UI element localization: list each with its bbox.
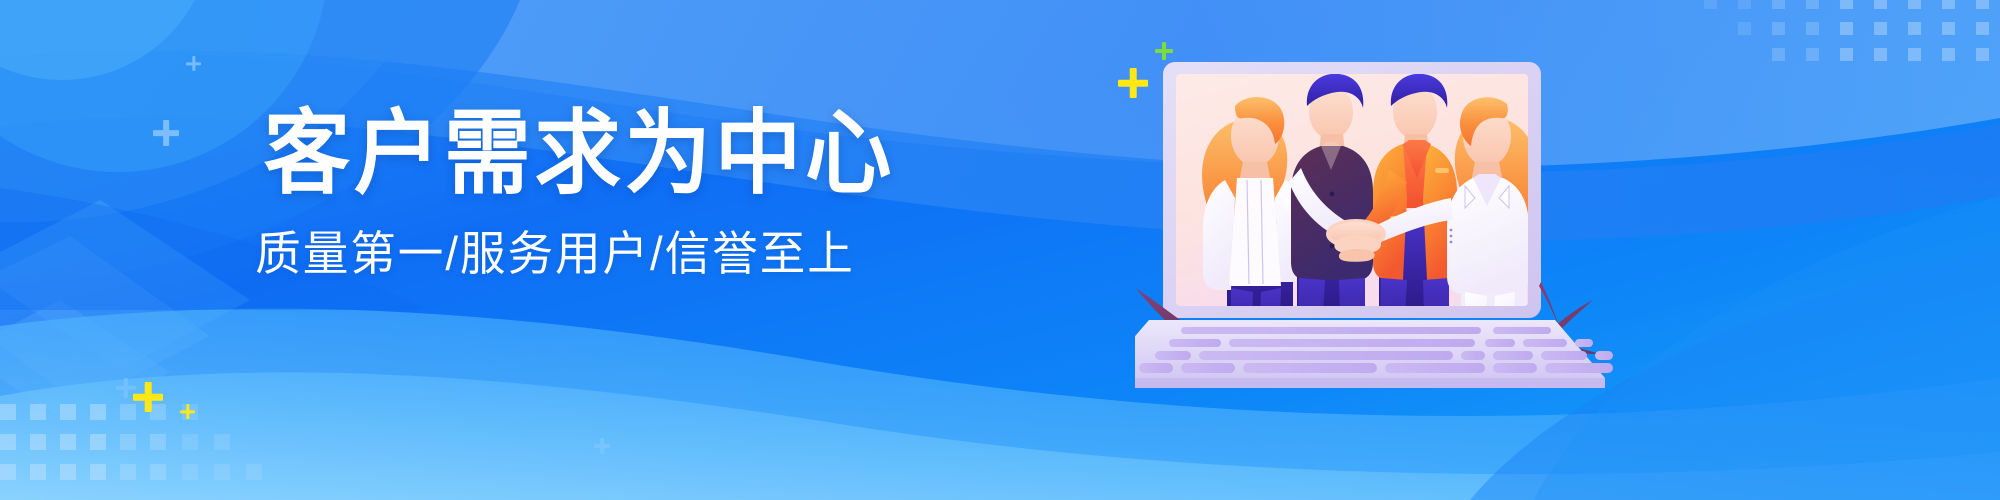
headline-block: 客户需求为中心 质量第一/服务用户/信誉至上 xyxy=(245,108,865,280)
dot-grid-top-right xyxy=(1704,0,1989,61)
plus-yellow-small-left xyxy=(180,404,195,419)
laptop-team-illustration xyxy=(1135,48,1635,398)
plus-pale-left-mid xyxy=(153,120,179,146)
marketing-banner: 客户需求为中心 质量第一/服务用户/信誉至上 xyxy=(0,0,2000,500)
plus-yellow-large-left xyxy=(133,382,163,412)
banner-headline: 客户需求为中心 xyxy=(264,108,847,202)
plus-pale-lower-right xyxy=(594,438,610,454)
plus-yellow-large-right xyxy=(1118,68,1148,98)
plus-pale-left-upper xyxy=(186,56,201,71)
banner-subheadline: 质量第一/服务用户/信誉至上 xyxy=(254,228,855,280)
plus-pale-bottom xyxy=(116,378,136,398)
dot-grid-bottom-left xyxy=(0,404,262,480)
laptop-base xyxy=(1135,320,1613,388)
plus-green-small-right xyxy=(1155,42,1173,60)
